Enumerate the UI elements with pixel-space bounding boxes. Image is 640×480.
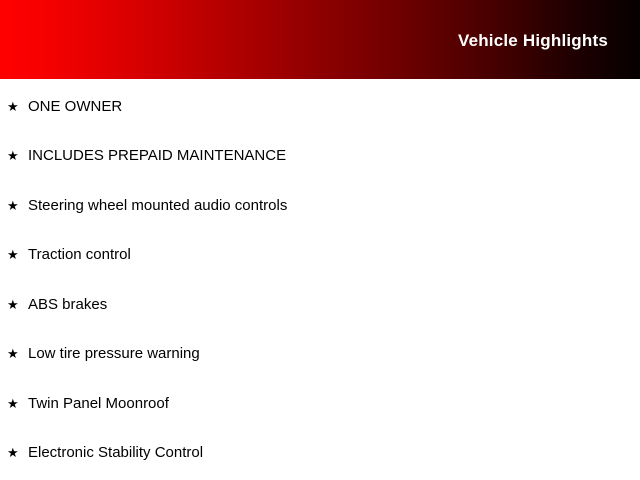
- highlight-label: Twin Panel Moonroof: [28, 393, 169, 415]
- list-item: ★ Traction control: [7, 244, 131, 266]
- list-item: ★ ONE OWNER: [7, 96, 122, 118]
- star-icon: ★: [7, 145, 20, 167]
- highlight-label: Low tire pressure warning: [28, 343, 200, 365]
- highlight-label: Traction control: [28, 244, 131, 266]
- highlight-label: ABS brakes: [28, 294, 107, 316]
- star-icon: ★: [7, 244, 20, 266]
- star-icon: ★: [7, 294, 20, 316]
- highlight-label: INCLUDES PREPAID MAINTENANCE: [28, 145, 286, 167]
- header-banner: Vehicle Highlights: [0, 0, 640, 79]
- star-icon: ★: [7, 393, 20, 415]
- highlight-label: Electronic Stability Control: [28, 442, 203, 464]
- list-item: ★ Steering wheel mounted audio controls: [7, 195, 287, 217]
- list-item: ★ Twin Panel Moonroof: [7, 393, 169, 415]
- star-icon: ★: [7, 195, 20, 217]
- star-icon: ★: [7, 343, 20, 365]
- page-title: Vehicle Highlights: [458, 30, 608, 52]
- vehicle-highlights-panel: Vehicle Highlights ★ ONE OWNER ★ INCLUDE…: [0, 0, 640, 480]
- highlight-label: ONE OWNER: [28, 96, 122, 118]
- list-item: ★ Electronic Stability Control: [7, 442, 203, 464]
- list-item: ★ INCLUDES PREPAID MAINTENANCE: [7, 145, 286, 167]
- list-item: ★ Low tire pressure warning: [7, 343, 200, 365]
- highlights-list: ★ ONE OWNER ★ INCLUDES PREPAID MAINTENAN…: [0, 79, 640, 480]
- star-icon: ★: [7, 96, 20, 118]
- star-icon: ★: [7, 442, 20, 464]
- list-item: ★ ABS brakes: [7, 294, 107, 316]
- highlight-label: Steering wheel mounted audio controls: [28, 195, 287, 217]
